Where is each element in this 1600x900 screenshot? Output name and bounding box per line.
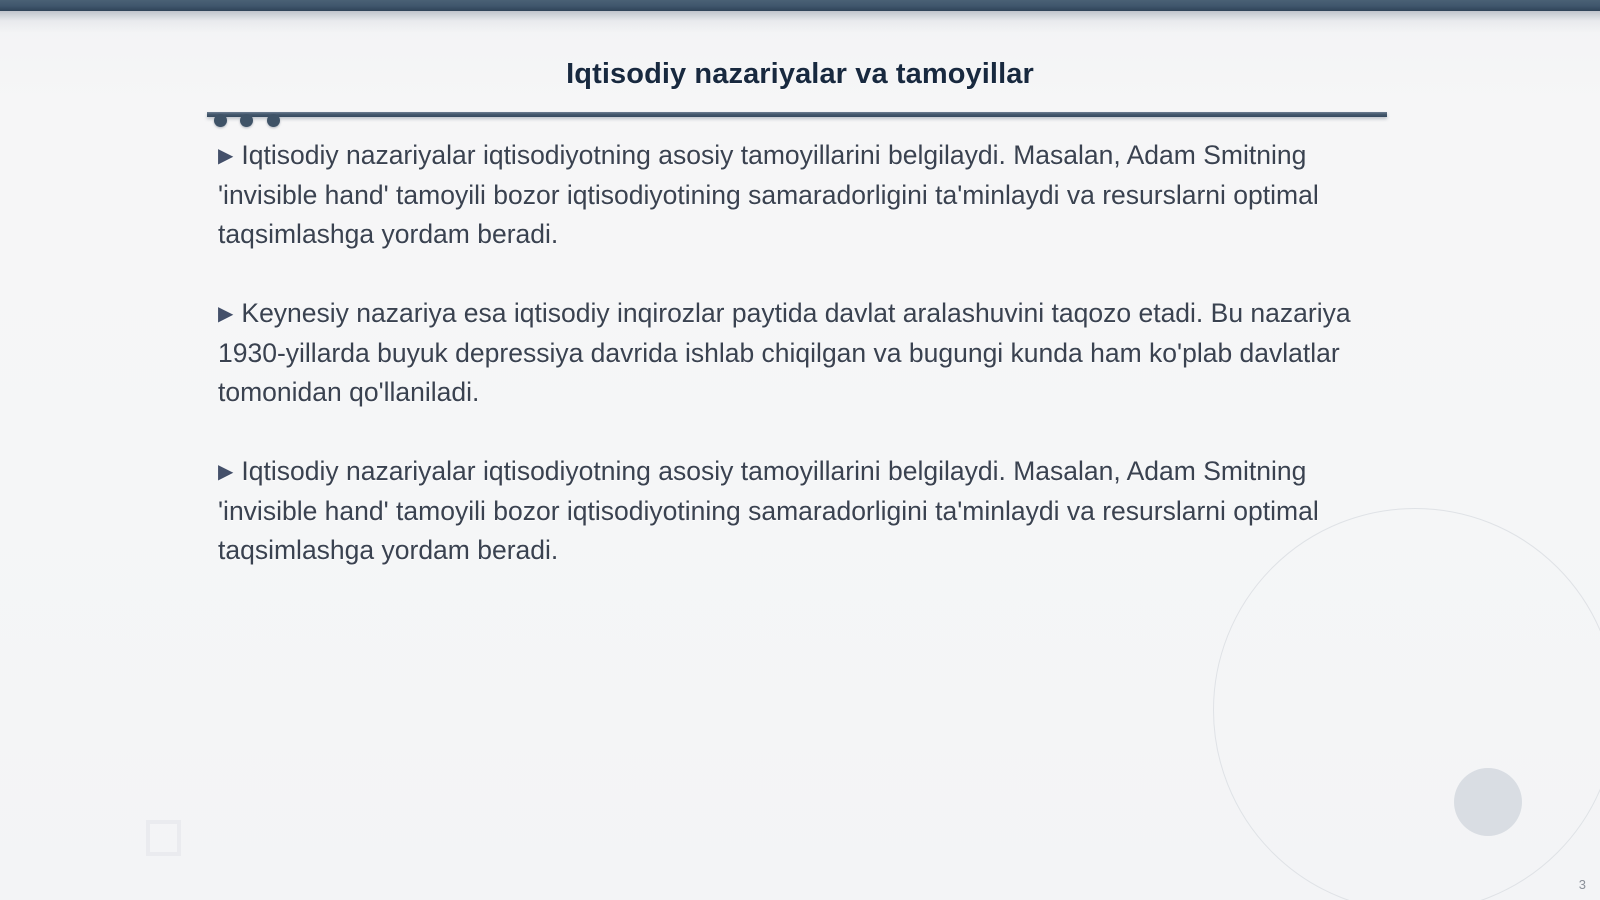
triangle-bullet-icon: ▶ xyxy=(218,461,233,483)
bullet-paragraph-1: ▶Iqtisodiy nazariyalar iqtisodiyotning a… xyxy=(218,136,1363,254)
bullet-paragraph-3: ▶Iqtisodiy nazariyalar iqtisodiyotning a… xyxy=(218,452,1363,570)
bullet-paragraph-2: ▶Keynesiy nazariya esa iqtisodiy inqiroz… xyxy=(218,294,1363,412)
presentation-slide: Iqtisodiy nazariyalar va tamoyillar ▶Iqt… xyxy=(0,0,1600,900)
divider-dot-2 xyxy=(240,114,253,127)
bullet-paragraph-3-text: Iqtisodiy nazariyalar iqtisodiyotning as… xyxy=(218,456,1319,565)
slide-body: ▶Iqtisodiy nazariyalar iqtisodiyotning a… xyxy=(218,136,1363,570)
triangle-bullet-icon: ▶ xyxy=(218,145,233,167)
title-divider xyxy=(207,108,1387,134)
divider-dot-1 xyxy=(214,114,227,127)
divider-dot-3 xyxy=(267,114,280,127)
triangle-bullet-icon: ▶ xyxy=(218,303,233,325)
page-number: 3 xyxy=(1579,877,1586,892)
slide-title: Iqtisodiy nazariyalar va tamoyillar xyxy=(0,58,1600,91)
bullet-paragraph-1-text: Iqtisodiy nazariyalar iqtisodiyotning as… xyxy=(218,140,1319,249)
top-accent-bar xyxy=(0,0,1600,11)
decorative-square-outline xyxy=(146,820,181,856)
top-bar-shadow xyxy=(0,11,1600,33)
decorative-filled-circle xyxy=(1454,768,1522,836)
divider-line xyxy=(207,112,1387,117)
bullet-paragraph-2-text: Keynesiy nazariya esa iqtisodiy inqirozl… xyxy=(218,298,1351,407)
